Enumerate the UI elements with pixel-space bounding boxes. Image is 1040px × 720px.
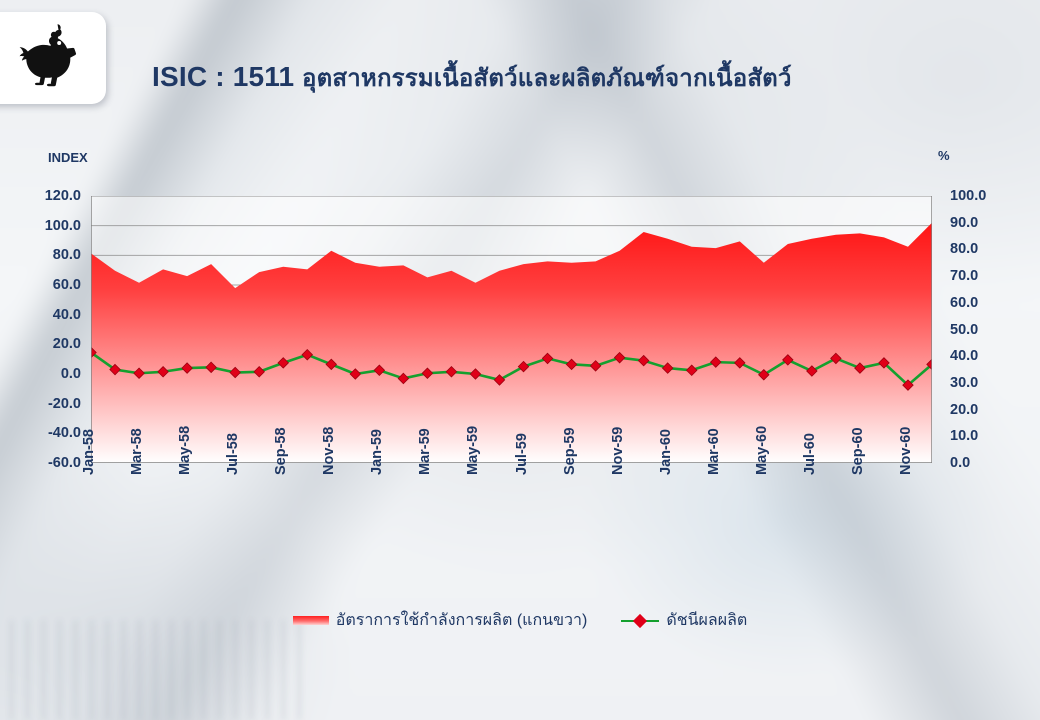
left-axis-tick-label: 100.0 — [45, 218, 81, 234]
title-thai-text: อุตสาหกรรมเนื้อสัตว์และผลิตภัณฑ์จากเนื้อ… — [302, 65, 792, 92]
x-axis-tick-label: May-60 — [754, 426, 770, 475]
legend-line-swatch — [621, 615, 659, 627]
right-axis-tick-label: 70.0 — [950, 268, 978, 284]
right-axis-tick-label: 50.0 — [950, 322, 978, 338]
legend-item-capacity: อัตราการใช้กำลังการผลิต (แกนขวา) — [293, 608, 588, 633]
legend-item-index: ดัชนีผลผลิต — [621, 608, 747, 633]
left-axis-tick-label: 80.0 — [53, 247, 81, 263]
production-capacity-chart: 120.0100.080.060.040.020.00.0-20.0-40.0-… — [91, 196, 932, 463]
x-axis-tick-label: Jan-60 — [658, 429, 674, 475]
page-title: ISIC : 1511 อุตสาหกรรมเนื้อสัตว์และผลิตภ… — [152, 58, 792, 97]
x-axis-tick-label: Mar-59 — [417, 428, 433, 475]
right-axis-tick-label: 40.0 — [950, 348, 978, 364]
x-axis-tick-label: Mar-58 — [129, 428, 145, 475]
x-axis-tick-label: Jan-58 — [81, 429, 97, 475]
legend-line-label: ดัชนีผลผลิต — [666, 608, 747, 633]
left-axis-tick-label: 120.0 — [45, 188, 81, 204]
legend-area-swatch — [293, 616, 329, 625]
right-axis-tick-label: 20.0 — [950, 402, 978, 418]
right-axis-tick-label: 10.0 — [950, 428, 978, 444]
slide-root: ISIC : 1511 อุตสาหกรรมเนื้อสัตว์และผลิตภ… — [0, 0, 1040, 720]
left-axis-tick-label: 20.0 — [53, 336, 81, 352]
x-axis-tick-label: Mar-60 — [706, 428, 722, 475]
right-axis-caption: % — [938, 148, 950, 163]
left-axis-tick-label: 60.0 — [53, 277, 81, 293]
x-axis-tick-label: Sep-59 — [562, 427, 578, 475]
x-axis-tick-label: May-59 — [465, 426, 481, 475]
chicken-icon — [13, 23, 85, 93]
left-axis-tick-label: -60.0 — [48, 455, 81, 471]
x-axis-tick-label: Jul-58 — [225, 433, 241, 475]
right-axis-tick-label: 30.0 — [950, 375, 978, 391]
x-axis-tick-label: Jul-60 — [802, 433, 818, 475]
capacity-utilization-area — [91, 223, 932, 463]
x-axis-tick-label: May-58 — [177, 426, 193, 475]
right-axis-tick-label: 60.0 — [950, 295, 978, 311]
left-axis-caption: INDEX — [48, 150, 88, 165]
left-axis-tick-label: 40.0 — [53, 307, 81, 323]
x-axis-tick-label: Jul-59 — [514, 433, 530, 475]
chart-legend: อัตราการใช้กำลังการผลิต (แกนขวา) ดัชนีผล… — [0, 608, 1040, 633]
x-axis-tick-label: Nov-59 — [610, 427, 626, 475]
x-axis-tick-label: Nov-60 — [898, 427, 914, 475]
title-isic-code: ISIC : 1511 — [152, 61, 294, 92]
right-axis-tick-label: 0.0 — [950, 455, 970, 471]
left-axis-tick-label: -20.0 — [48, 396, 81, 412]
chart-canvas — [91, 196, 932, 463]
left-axis-tick-label: -40.0 — [48, 425, 81, 441]
x-axis-tick-label: Sep-58 — [273, 427, 289, 475]
x-axis-tick-label: Sep-60 — [850, 427, 866, 475]
logo-card — [0, 12, 106, 104]
x-axis-tick-label: Jan-59 — [369, 429, 385, 475]
right-axis-tick-label: 100.0 — [950, 188, 986, 204]
x-axis-tick-label: Nov-58 — [321, 427, 337, 475]
right-axis-tick-label: 80.0 — [950, 241, 978, 257]
left-axis-tick-label: 0.0 — [61, 366, 81, 382]
legend-area-label: อัตราการใช้กำลังการผลิต (แกนขวา) — [336, 608, 588, 633]
right-axis-tick-label: 90.0 — [950, 215, 978, 231]
